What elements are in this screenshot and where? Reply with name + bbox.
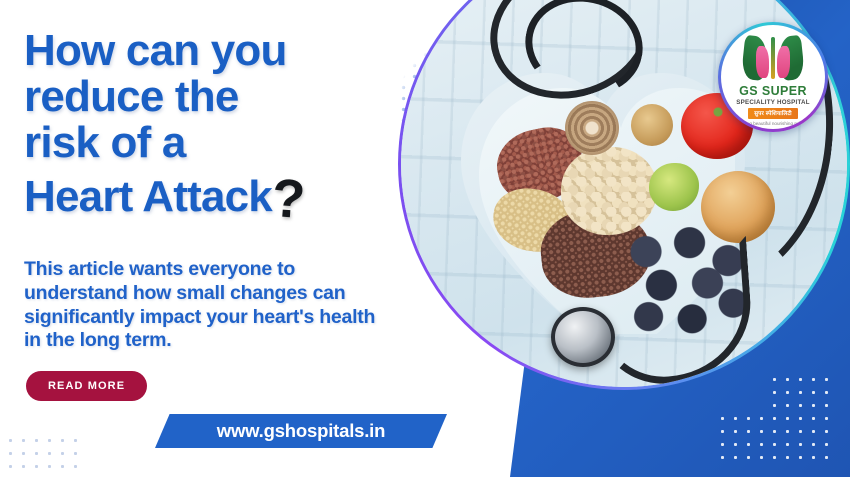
caduceus-wings-emblem-icon <box>742 34 804 82</box>
hospital-logo-inner: GS SUPER SPECIALITY HOSPITAL सुपर स्पेशि… <box>721 25 825 129</box>
read-more-button[interactable]: READ MORE <box>26 371 147 401</box>
subtitle-text: This article wants everyone to understan… <box>24 258 394 353</box>
dot-grid-pattern-bottom-right <box>716 373 836 469</box>
text-content-column: How can you reduce the risk of a Heart A… <box>0 0 420 477</box>
hospital-logo-subtitle: SPECIALITY HOSPITAL <box>736 100 810 106</box>
question-mark-icon: ? <box>270 170 306 228</box>
website-url-text: www.gshospitals.in <box>217 420 385 442</box>
headline-line-3: risk of a <box>24 118 186 167</box>
headline-line-4: Heart Attack <box>24 172 272 221</box>
stethoscope-chestpiece-icon <box>551 307 615 367</box>
headline-line-2: reduce the <box>24 72 239 121</box>
hospital-logo-name: GS SUPER <box>739 85 807 98</box>
hospital-logo-badge[interactable]: GS SUPER SPECIALITY HOSPITAL सुपर स्पेशि… <box>718 22 828 132</box>
website-url-ribbon[interactable]: www.gshospitals.in <box>155 414 447 448</box>
page-title: How can you reduce the risk of a Heart A… <box>24 28 404 221</box>
headline-line-1: How can you <box>24 26 287 75</box>
promo-banner: GS SUPER SPECIALITY HOSPITAL सुपर स्पेशि… <box>0 0 850 477</box>
hospital-logo-band: सुपर स्पेशियालिटी <box>748 108 798 119</box>
